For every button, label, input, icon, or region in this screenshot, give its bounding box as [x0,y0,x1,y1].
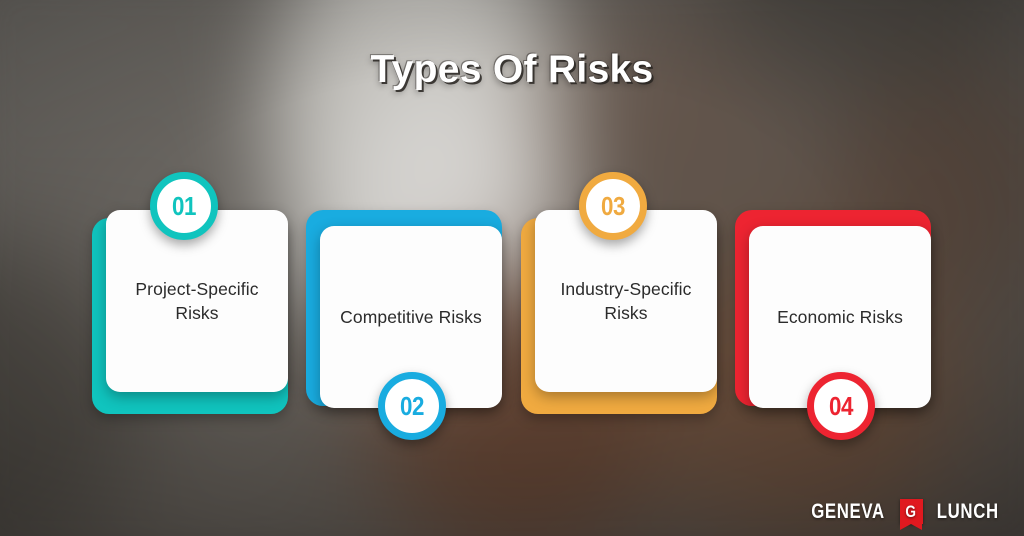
risk-card-01[interactable]: Project-Specific Risks01 [92,174,304,414]
card-label: Economic Risks [767,305,913,329]
risk-card-row: Project-Specific Risks01Competitive Risk… [0,0,1024,536]
card-number-badge: 03 [579,172,647,240]
card-number-text: 03 [601,191,625,222]
card-number-text: 01 [172,191,196,222]
logo-word-left: GENEVA [811,500,885,524]
logo-word-right: LUNCH [936,500,998,524]
risk-card-04[interactable]: Economic Risks04 [735,196,947,436]
card-label: Competitive Risks [330,305,492,329]
logo-mark-letter: G [906,502,917,522]
risk-card-03[interactable]: Industry-Specific Risks03 [521,174,733,414]
risk-card-02[interactable]: Competitive Risks02 [306,196,518,436]
card-number-badge: 04 [807,372,875,440]
card-number-text: 04 [829,391,853,422]
card-number-badge: 02 [378,372,446,440]
card-label: Project-Specific Risks [106,277,288,325]
logo-mark-icon: G [900,499,923,524]
card-number-badge: 01 [150,172,218,240]
infographic-canvas: Types Of Risks Project-Specific Risks01C… [0,0,1024,536]
brand-logo: GENEVA G LUNCH [802,499,1006,524]
card-number-text: 02 [400,391,424,422]
card-label: Industry-Specific Risks [535,277,717,325]
